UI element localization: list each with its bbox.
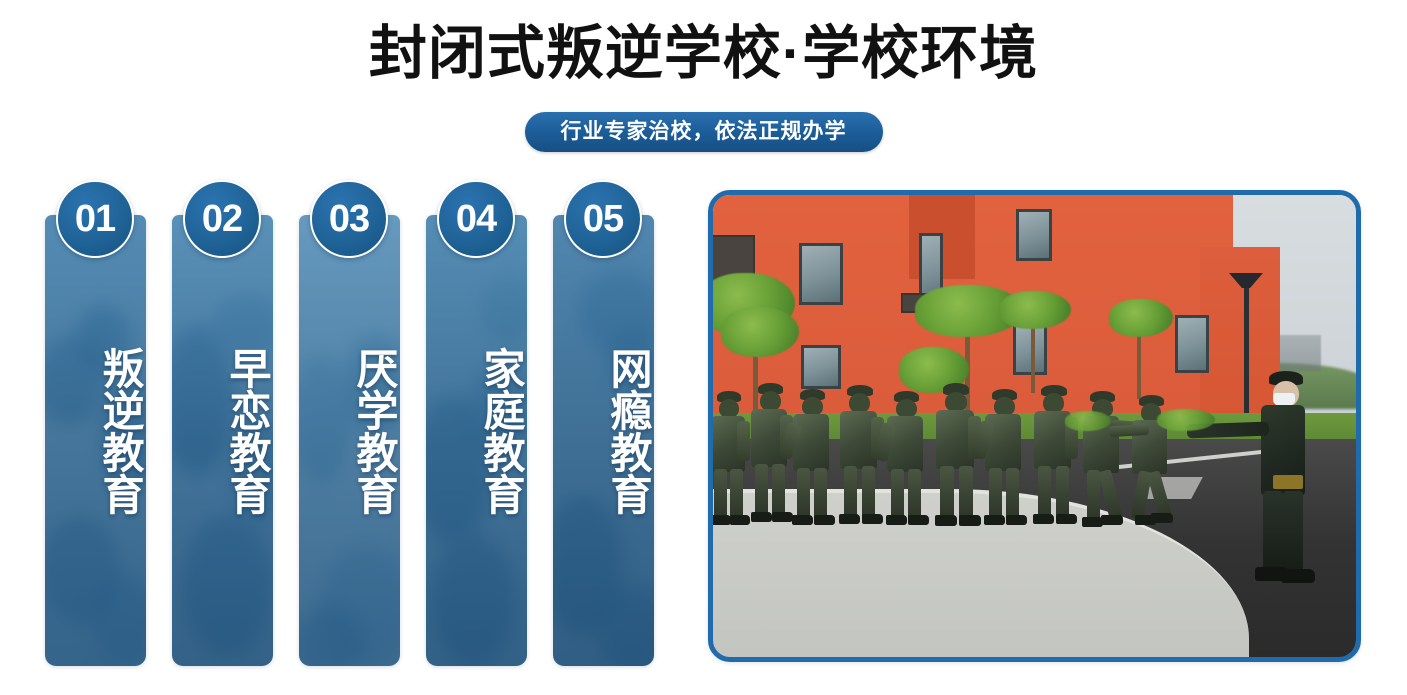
student-cadet (931, 383, 979, 535)
instructor (1233, 371, 1319, 599)
category-card-number-2[interactable]: 02 (183, 180, 261, 258)
category-card-number-4[interactable]: 04 (437, 180, 515, 258)
header: 封闭式叛逆学校·学校环境 行业专家治校，依法正规办学 (0, 0, 1407, 172)
category-card-label-4: 家庭教育 (426, 347, 527, 515)
student-cadet (883, 391, 929, 535)
window-icon (1175, 315, 1209, 373)
category-card-label-2: 早恋教育 (172, 347, 273, 515)
tree-trunk (1137, 327, 1141, 399)
campus-photo (713, 195, 1356, 657)
category-card-label-5: 网瘾教育 (553, 347, 654, 515)
category-card-3[interactable]: 厌学教育 (299, 215, 400, 666)
instructor-leg (1263, 491, 1283, 573)
instructor-leg (1283, 491, 1303, 573)
category-card-number-1[interactable]: 01 (56, 180, 134, 258)
page-title: 封闭式叛逆学校·学校环境 (0, 18, 1407, 90)
student-cadet (981, 389, 1027, 535)
student-cadet (713, 391, 751, 531)
category-card-label-1: 叛逆教育 (45, 347, 146, 515)
category-card-5[interactable]: 网瘾教育 (553, 215, 654, 666)
student-cadet (1029, 385, 1077, 535)
student-cadet (835, 385, 883, 535)
student-cadet (789, 389, 835, 535)
poster-root: 封闭式叛逆学校·学校环境 行业专家治校，依法正规办学 叛逆教育 01 (0, 0, 1407, 695)
window-icon (801, 345, 841, 389)
category-card-number-3[interactable]: 03 (310, 180, 388, 258)
instructor-belt (1273, 475, 1303, 489)
category-card-label-3: 厌学教育 (299, 347, 400, 515)
window-icon (1013, 323, 1047, 375)
category-card-2[interactable]: 早恋教育 (172, 215, 273, 666)
category-card-number-5[interactable]: 05 (564, 180, 642, 258)
category-card-list: 叛逆教育 01 早恋教育 02 厌学教育 03 (45, 180, 660, 666)
window-icon (799, 243, 843, 305)
category-card-1[interactable]: 叛逆教育 (45, 215, 146, 666)
window-icon (1016, 209, 1052, 261)
campus-photo-frame[interactable] (708, 190, 1361, 662)
instructor-boot (1281, 569, 1315, 583)
category-card-4[interactable]: 家庭教育 (426, 215, 527, 666)
subtitle-badge: 行业专家治校，依法正规办学 (525, 112, 883, 152)
